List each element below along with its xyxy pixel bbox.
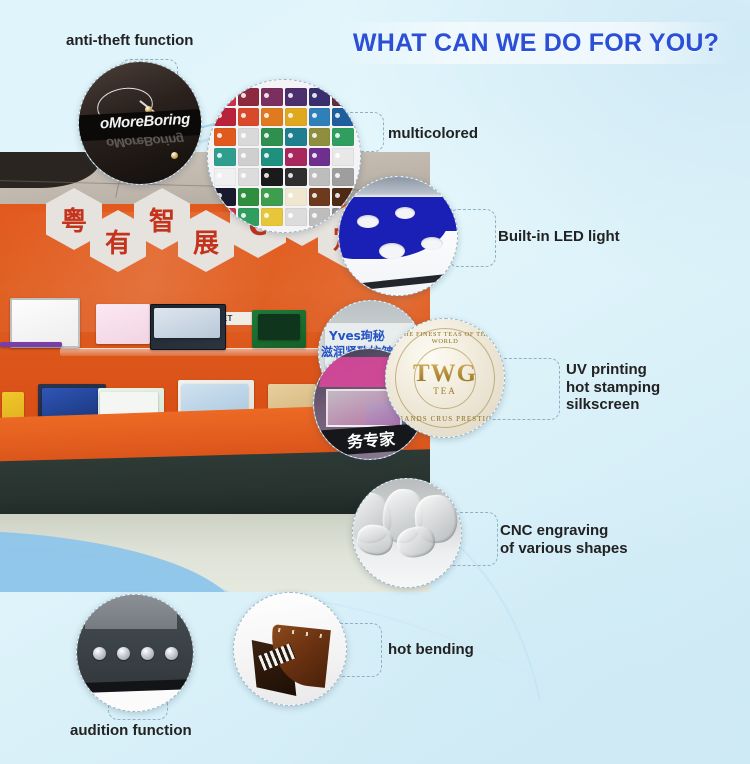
infographic-canvas: WHAT CAN WE DO FOR YOU? 粤 有 智 展 C 位 定 制 … bbox=[0, 0, 750, 764]
panel-hole bbox=[357, 215, 379, 228]
cable-lock-node bbox=[171, 152, 178, 159]
medallion-center: TWG TEA bbox=[413, 360, 477, 396]
label-uv-printing: UV printing hot stamping silkscreen bbox=[566, 361, 660, 414]
label-led: Built-in LED light bbox=[498, 228, 620, 246]
color-swatch bbox=[285, 88, 307, 106]
color-swatch bbox=[332, 88, 354, 106]
color-swatch bbox=[238, 128, 260, 146]
circle-photo-anti-theft: oMoreBoring oMoreBoring bbox=[78, 61, 202, 185]
audition-button bbox=[165, 647, 178, 660]
color-swatch bbox=[309, 148, 331, 166]
color-swatch bbox=[238, 188, 260, 206]
label-cnc: CNC engraving of various shapes bbox=[500, 522, 628, 557]
color-swatch bbox=[238, 208, 260, 226]
color-swatch bbox=[332, 128, 354, 146]
color-swatch bbox=[309, 168, 331, 186]
product-screen bbox=[258, 314, 300, 340]
color-swatch bbox=[261, 108, 283, 126]
audition-button bbox=[141, 647, 154, 660]
color-swatch bbox=[285, 208, 307, 226]
color-swatch bbox=[309, 88, 331, 106]
color-swatch bbox=[238, 108, 260, 126]
color-swatch bbox=[238, 168, 260, 186]
medallion-brand: TWG bbox=[413, 360, 477, 388]
color-swatch bbox=[261, 168, 283, 186]
color-swatch bbox=[285, 168, 307, 186]
product-item bbox=[10, 298, 80, 348]
color-swatch bbox=[238, 88, 260, 106]
color-swatch bbox=[309, 188, 331, 206]
color-swatch bbox=[285, 148, 307, 166]
color-swatch bbox=[332, 148, 354, 166]
color-swatch bbox=[214, 208, 236, 226]
label-anti-theft: anti-theft function bbox=[66, 32, 193, 50]
color-swatch bbox=[214, 88, 236, 106]
color-swatch bbox=[285, 108, 307, 126]
panel-hole bbox=[395, 207, 415, 219]
page-title-banner: WHAT CAN WE DO FOR YOU? bbox=[330, 22, 742, 64]
label-audition: audition function bbox=[70, 722, 192, 740]
product-item bbox=[0, 342, 62, 347]
color-swatch bbox=[261, 148, 283, 166]
color-swatch bbox=[214, 148, 236, 166]
label-multicolored: multicolored bbox=[388, 125, 478, 143]
color-swatch bbox=[214, 188, 236, 206]
panel-hole bbox=[379, 243, 405, 259]
product-screen bbox=[154, 308, 220, 338]
panel-hole bbox=[421, 237, 443, 250]
label-hot-bending: hot bending bbox=[388, 641, 474, 659]
circle-photo-color-swatches bbox=[207, 79, 361, 233]
color-swatch bbox=[332, 108, 354, 126]
color-swatch bbox=[214, 108, 236, 126]
color-swatch bbox=[214, 128, 236, 146]
color-swatch bbox=[214, 168, 236, 186]
color-swatch bbox=[309, 108, 331, 126]
color-swatch bbox=[309, 208, 331, 226]
color-swatch bbox=[238, 148, 260, 166]
color-swatch bbox=[309, 128, 331, 146]
color-swatch bbox=[261, 188, 283, 206]
product-item bbox=[96, 304, 150, 344]
circle-photo-speaker-buttons bbox=[76, 594, 194, 712]
circle-photo-engraved-relief bbox=[352, 478, 462, 588]
color-swatch bbox=[285, 128, 307, 146]
audition-button bbox=[117, 647, 130, 660]
color-swatch bbox=[285, 188, 307, 206]
color-swatch bbox=[261, 128, 283, 146]
medallion-arc-top: THE FINEST TEAS OF THE WORLD bbox=[386, 331, 504, 345]
circle-photo-gold-medallion: THE FINEST TEAS OF THE WORLD TWG TEA GRA… bbox=[385, 318, 505, 438]
medallion-arc-bottom: GRANDS CRUS PRESTIGE bbox=[386, 415, 504, 423]
page-title: WHAT CAN WE DO FOR YOU? bbox=[353, 29, 719, 58]
color-swatch bbox=[261, 208, 283, 226]
audition-button bbox=[93, 647, 106, 660]
circle-photo-bent-acrylic bbox=[233, 592, 347, 706]
circle-photo-led-panel bbox=[338, 176, 458, 296]
color-swatch-grid bbox=[214, 88, 354, 226]
color-swatch bbox=[261, 88, 283, 106]
